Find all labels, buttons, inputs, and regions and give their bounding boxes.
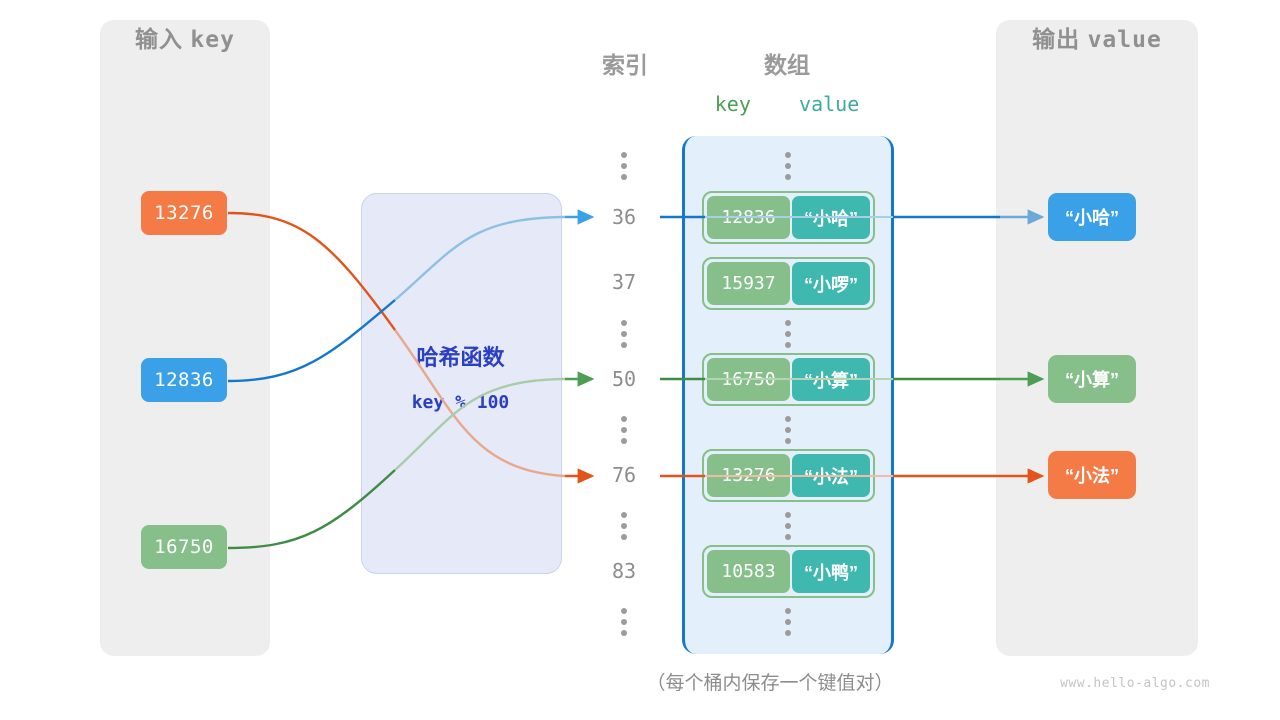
key-value-header: key value	[667, 92, 907, 116]
hash-function-name: 哈希函数	[361, 340, 560, 372]
output-value-panel	[996, 20, 1198, 656]
index-ellipsis-bottom	[621, 608, 627, 636]
index-label-37: 37	[588, 270, 660, 294]
index-label-76: 76	[588, 463, 660, 487]
bucket-value-83: “小鸭”	[792, 550, 870, 593]
key-header-label: key	[715, 92, 751, 116]
output-value-chip-1[interactable]: “小算”	[1048, 355, 1136, 403]
hash-function-formula: key % 100	[361, 392, 560, 413]
input-panel-title-cn: 输入	[135, 26, 183, 52]
bucket-key-83: 10583	[707, 550, 790, 593]
output-value-chip-2[interactable]: “小法”	[1048, 451, 1136, 499]
input-key-chip-0[interactable]: 13276	[141, 191, 227, 235]
index-ellipsis-top	[621, 152, 627, 180]
diagram-caption: （每个桶内保存一个键值对）	[600, 668, 940, 695]
bucket-row-83[interactable]: 10583 “小鸭”	[702, 545, 875, 598]
watermark: www.hello-algo.com	[970, 676, 1210, 691]
output-value-chip-0[interactable]: “小哈”	[1048, 193, 1136, 241]
output-panel-title: 输出 value	[996, 20, 1198, 54]
output-panel-title-cn: 输出	[1032, 26, 1080, 52]
bucket-key-37: 15937	[707, 262, 790, 305]
bucket-row-37[interactable]: 15937 “小啰”	[702, 257, 875, 310]
index-label-36: 36	[588, 205, 660, 229]
index-ellipsis-2	[621, 416, 627, 444]
array-ellipsis-top	[785, 152, 791, 180]
array-ellipsis-2	[785, 416, 791, 444]
index-ellipsis-3	[621, 512, 627, 540]
bucket-row-76[interactable]: 13276 “小法”	[702, 449, 875, 502]
array-ellipsis-bottom	[785, 608, 791, 636]
input-key-chip-2[interactable]: 16750	[141, 525, 227, 569]
input-panel-title: 输入 key	[100, 20, 270, 54]
bucket-row-50[interactable]: 16750 “小算”	[702, 353, 875, 406]
bucket-key-36: 12836	[707, 196, 790, 239]
array-ellipsis-1	[785, 320, 791, 348]
bucket-key-50: 16750	[707, 358, 790, 401]
array-column-header: 数组	[727, 46, 847, 80]
input-key-chip-1[interactable]: 12836	[141, 358, 227, 402]
input-panel-title-mono: key	[190, 27, 235, 53]
array-ellipsis-3	[785, 512, 791, 540]
bucket-row-36[interactable]: 12836 “小哈”	[702, 191, 875, 244]
bucket-value-76: “小法”	[792, 454, 870, 497]
index-column-header: 索引	[565, 46, 685, 80]
index-label-83: 83	[588, 559, 660, 583]
hash-function-box	[361, 193, 562, 574]
index-label-50: 50	[588, 367, 660, 391]
bucket-value-37: “小啰”	[792, 262, 870, 305]
index-ellipsis-1	[621, 320, 627, 348]
bucket-value-36: “小哈”	[792, 196, 870, 239]
bucket-value-50: “小算”	[792, 358, 870, 401]
bucket-key-76: 13276	[707, 454, 790, 497]
output-panel-title-mono: value	[1088, 27, 1162, 53]
value-header-label: value	[799, 92, 859, 116]
